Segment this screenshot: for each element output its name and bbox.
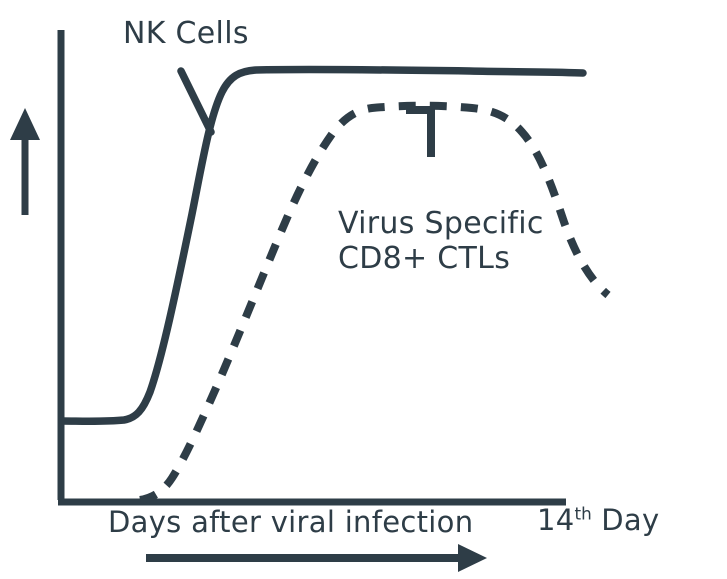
chart-canvas	[0, 0, 727, 579]
up-arrow-icon	[10, 108, 40, 215]
series-label-cd8-ctls-line1: Virus Specific	[338, 206, 544, 241]
day-marker-suffix: Day	[592, 503, 660, 537]
x-axis-day-marker: 14th Day	[537, 503, 659, 537]
series-cd8-ctls	[140, 106, 608, 500]
series-label-cd8-ctls-line2: CD8+ CTLs	[338, 241, 544, 276]
x-axis-label: Days after viral infection	[108, 505, 473, 539]
right-arrow-icon	[146, 544, 487, 572]
v-leader-line	[181, 71, 211, 132]
day-marker-number: 14	[537, 503, 575, 537]
chart-figure: NK Cells Virus Specific CD8+ CTLs Days a…	[0, 0, 727, 579]
series-label-cd8-ctls: Virus Specific CD8+ CTLs	[338, 206, 544, 277]
series-label-nk-cells: NK Cells	[123, 16, 249, 51]
t-leader-line	[406, 108, 434, 157]
day-marker-ordinal: th	[575, 503, 592, 523]
